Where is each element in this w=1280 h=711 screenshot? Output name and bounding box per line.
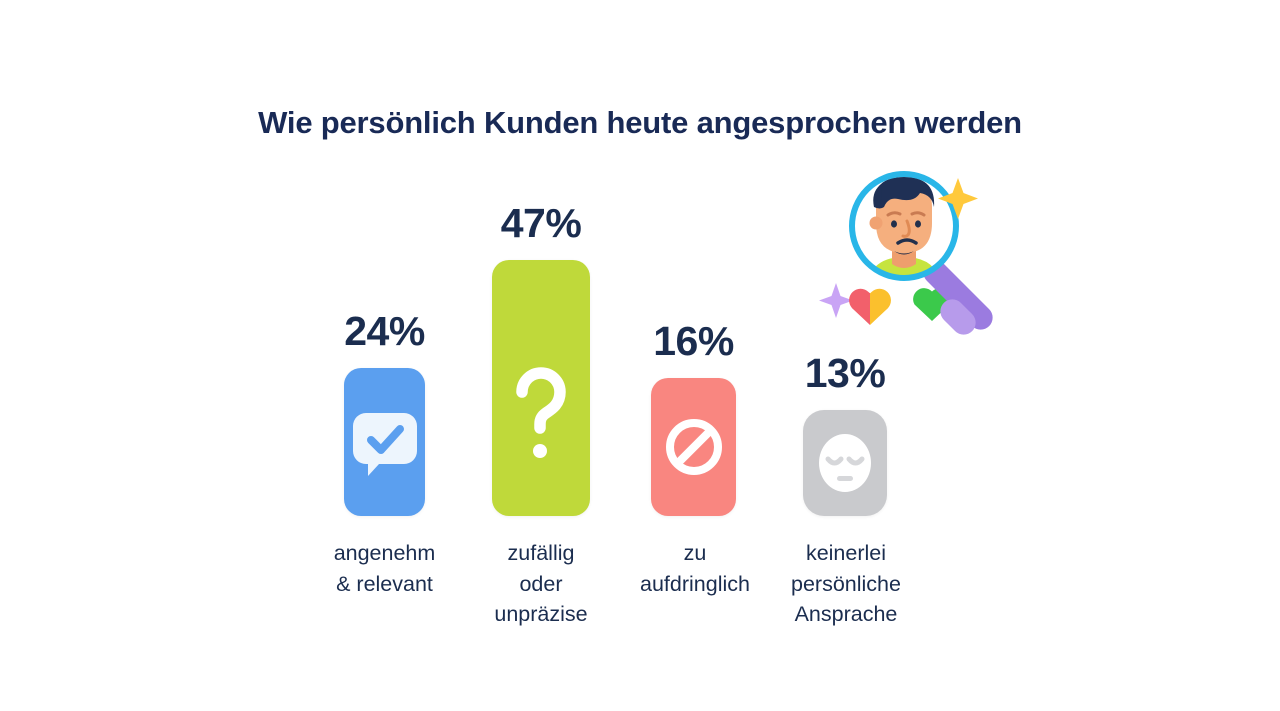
- magnifying-glass-person-illustration: [806, 163, 1014, 335]
- bar-group-zufaellig-unpraezise[interactable]: 47%: [492, 203, 590, 516]
- sparkle-purple-icon: [819, 283, 853, 318]
- bar-rect[interactable]: [651, 378, 736, 516]
- bar-rect[interactable]: [803, 410, 887, 516]
- question-mark-icon: [510, 367, 572, 463]
- bar-group-zu-aufdringlich[interactable]: 16%: [651, 321, 736, 516]
- bar-group-keinerlei-ansprache[interactable]: 13%: [803, 353, 887, 516]
- bar-rect[interactable]: [344, 368, 425, 516]
- bar-value-label: 13%: [805, 353, 886, 394]
- bar-chart: 24% 47% 16%: [0, 0, 1280, 711]
- category-label-zufaellig-unpraezise: zufällig oder unpräzise: [451, 538, 631, 630]
- category-label-keinerlei-ansprache: keinerlei persönliche Ansprache: [761, 538, 931, 630]
- bar-value-label: 47%: [501, 203, 582, 244]
- category-label-angenehm-relevant: angenehm & relevant: [294, 538, 475, 599]
- bar-group-angenehm-relevant[interactable]: 24%: [344, 311, 425, 516]
- expressionless-face-icon: [814, 428, 876, 498]
- bar-value-label: 16%: [653, 321, 734, 362]
- heart-pink-yellow-icon: [849, 288, 891, 325]
- category-label-zu-aufdringlich: zu aufdringlich: [611, 538, 779, 599]
- speech-bubble-check-icon: [352, 407, 418, 477]
- prohibition-icon: [663, 416, 725, 478]
- infographic-root: Wie persönlich Kunden heute angesprochen…: [0, 0, 1280, 711]
- bar-rect[interactable]: [492, 260, 590, 516]
- bar-value-label: 24%: [344, 311, 425, 352]
